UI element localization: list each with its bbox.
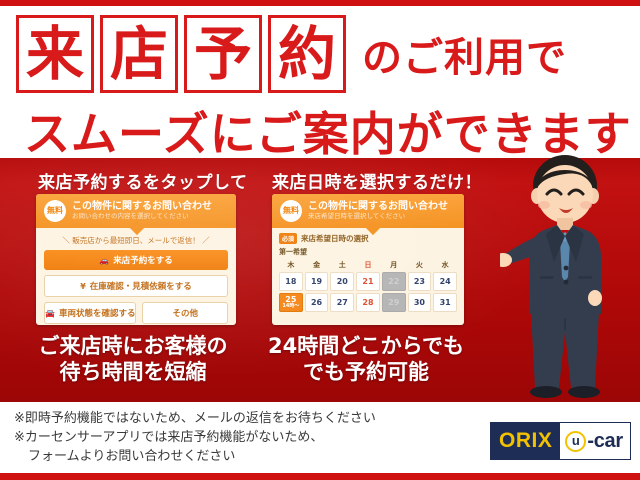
headline-row-1: 来 店 予 約 のご利用で <box>16 12 567 96</box>
footer-note-2: ※カーセンサーアプリでは来店予約機能がないため、 <box>14 429 376 448</box>
calendar-body: 必須 来店希望日時の選択 第一希望 木 金 土 日 月 火 水 18 19 20… <box>272 228 464 312</box>
footer-note-3: フォームよりお問い合わせください <box>14 448 376 467</box>
headline-tail-text: のご利用で <box>362 25 567 83</box>
logo-car-text: -car <box>587 430 623 453</box>
vehicle-condition-button[interactable]: 🚘 車両状態を確認する <box>44 302 136 324</box>
right-column-heading: 来店日時を選択するだけ！ <box>272 168 482 193</box>
dow-tue: 火 <box>408 260 432 270</box>
stock-quote-button[interactable]: ¥ 在庫確認・見積依頼をする <box>44 275 228 297</box>
reserve-visit-label: 来店予約をする <box>113 254 173 266</box>
selected-day-time: 14時〜 <box>280 304 302 309</box>
stock-quote-label: 在庫確認・見積依頼をする <box>90 280 192 292</box>
footer-notes: ※即時予約機能ではないため、メールの返信をお待ちください ※カーセンサーアプリで… <box>14 410 376 467</box>
dow-mon: 月 <box>382 260 406 270</box>
calendar-day[interactable]: 20 <box>330 272 354 291</box>
calendar-day[interactable]: 18 <box>279 272 303 291</box>
calendar-day-disabled: 29 <box>382 293 406 312</box>
logo-orix-text: ORIX <box>491 423 560 459</box>
free-badge: 無料 <box>44 200 66 222</box>
calendar-label: 来店希望日時の選択 <box>301 233 369 244</box>
dow-thu: 木 <box>279 260 303 270</box>
calendar-day[interactable]: 26 <box>305 293 329 312</box>
calendar-mockup: 無料 この物件に関するお問い合わせ 来店希望日時を選択してください 必須 来店希… <box>272 194 464 325</box>
left-caption-line-1: ご来店時にお客様の <box>16 334 250 360</box>
headline-row-2: スムーズにご案内ができます <box>24 98 632 158</box>
reserve-visit-button[interactable]: 🚗 来店予約をする <box>44 250 228 270</box>
logo-u-circle: u <box>565 431 586 452</box>
calendar-day[interactable]: 31 <box>433 293 457 312</box>
calendar-grid: 木 金 土 日 月 火 水 18 19 20 21 22 23 24 25 <box>279 260 457 312</box>
calendar-label-row: 必須 来店希望日時の選択 <box>279 233 457 244</box>
mockup-header-bar: 無料 この物件に関するお問い合わせ お問い合わせの内容を選択してください <box>36 194 236 228</box>
calendar-day-disabled: 22 <box>382 272 406 291</box>
businessman-illustration <box>500 152 630 402</box>
left-caption-line-2: 待ち時間を短縮 <box>16 360 250 386</box>
kanji-box-3: 予 <box>184 15 262 93</box>
calendar-header-subtitle: 来店希望日時を選択してください <box>308 213 448 220</box>
bottom-accent-stripe <box>0 473 640 480</box>
car-side-icon: 🚘 <box>45 309 55 318</box>
calendar-day[interactable]: 27 <box>330 293 354 312</box>
dow-fri: 金 <box>305 260 329 270</box>
calendar-day[interactable]: 21 <box>356 272 380 291</box>
mockup-header-title: この物件に関するお問い合わせ <box>72 201 212 212</box>
kanji-box-4: 約 <box>268 15 346 93</box>
kanji-box-2: 店 <box>100 15 178 93</box>
calendar-header-title: この物件に関するお問い合わせ <box>308 201 448 212</box>
vehicle-condition-label: 車両状態を確認する <box>59 307 136 319</box>
headline-section: 来 店 予 約 のご利用で スムーズにご案内ができます <box>0 6 640 158</box>
promo-banner: 来 店 予 約 のご利用で スムーズにご案内ができます 来店予約するをタップして… <box>0 0 640 480</box>
preference-label: 第一希望 <box>279 247 457 257</box>
calendar-day[interactable]: 30 <box>408 293 432 312</box>
orix-ucar-logo: ORIX u -car <box>490 422 631 460</box>
car-icon: 🚗 <box>99 256 109 265</box>
right-caption: 24時間どこからでも でも予約可能 <box>258 334 474 385</box>
kanji-box-1: 来 <box>16 15 94 93</box>
dow-sat: 土 <box>330 260 354 270</box>
footer-note-1: ※即時予約機能ではないため、メールの返信をお待ちください <box>14 410 376 429</box>
calendar-day[interactable]: 23 <box>408 272 432 291</box>
yen-icon: ¥ <box>80 282 86 291</box>
logo-ucar-block: u -car <box>560 423 630 459</box>
required-tag: 必須 <box>279 233 297 244</box>
secondary-button-row: 🚘 車両状態を確認する その他 <box>44 302 228 324</box>
right-caption-line-2: でも予約可能 <box>258 360 474 386</box>
left-caption: ご来店時にお客様の 待ち時間を短縮 <box>16 334 250 385</box>
left-column-heading: 来店予約するをタップして <box>38 168 248 193</box>
dow-wed: 水 <box>433 260 457 270</box>
free-badge: 無料 <box>280 200 302 222</box>
calendar-day[interactable]: 24 <box>433 272 457 291</box>
other-button[interactable]: その他 <box>142 302 228 324</box>
inquiry-form-mockup: 無料 この物件に関するお問い合わせ お問い合わせの内容を選択してください ＼ 販… <box>36 194 236 325</box>
mockup-header-subtitle: お問い合わせの内容を選択してください <box>72 213 212 220</box>
calendar-day[interactable]: 28 <box>356 293 380 312</box>
dow-sun: 日 <box>356 260 380 270</box>
right-caption-line-1: 24時間どこからでも <box>258 334 474 360</box>
calendar-header-bar: 無料 この物件に関するお問い合わせ 来店希望日時を選択してください <box>272 194 464 228</box>
calendar-day-selected[interactable]: 25 14時〜 <box>279 293 303 312</box>
calendar-day[interactable]: 19 <box>305 272 329 291</box>
